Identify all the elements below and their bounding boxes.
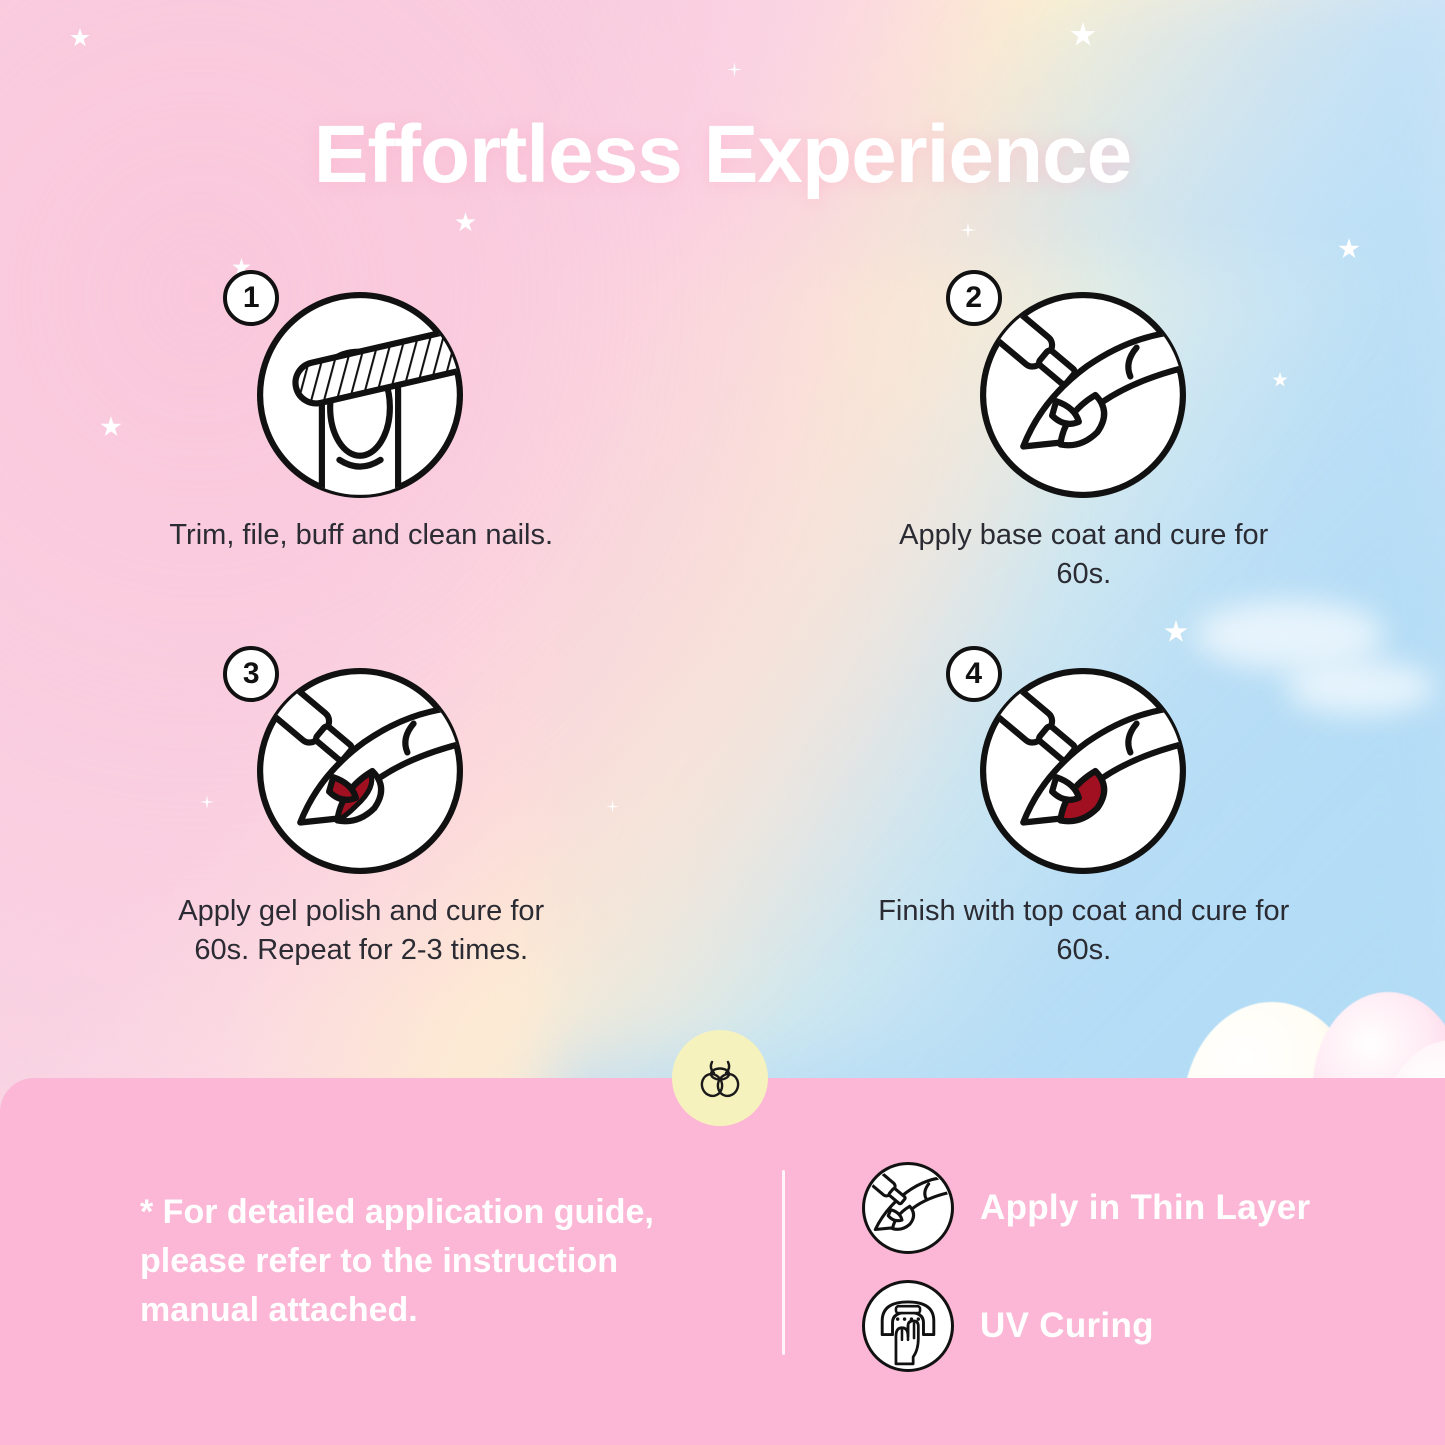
nail-file-icon <box>257 292 463 498</box>
step-4-caption: Finish with top coat and cure for 60s. <box>874 892 1294 970</box>
step-1-art: 1 <box>211 270 511 498</box>
instruction-note: * For detailed application guide, please… <box>140 1188 740 1335</box>
steps-grid: 1 <box>0 270 1445 969</box>
step-2-caption: Apply base coat and cure for 60s. <box>874 516 1294 594</box>
feature-thin-layer-label: Apply in Thin Layer <box>980 1188 1310 1228</box>
step-2-badge: 2 <box>946 270 1002 326</box>
bottom-panel: * For detailed application guide, please… <box>0 1078 1445 1445</box>
step-3-art: 3 <box>211 646 511 874</box>
step-1-badge: 1 <box>223 270 279 326</box>
page-title: Effortless Experience <box>0 108 1445 202</box>
steps-row-top: 1 <box>0 270 1445 594</box>
step-2-art: 2 <box>934 270 1234 498</box>
features-list: Apply in Thin Layer <box>862 1162 1310 1398</box>
step-3-caption: Apply gel polish and cure for 60s. Repea… <box>151 892 571 970</box>
step-3: 3 <box>0 646 723 970</box>
step-2: 2 <box>723 270 1445 594</box>
steps-row-bottom: 3 <box>0 646 1445 970</box>
step-4-badge: 4 <box>946 646 1002 702</box>
top-coat-brush-icon <box>980 668 1186 874</box>
feature-uv-curing: UV Curing <box>862 1280 1310 1372</box>
step-1-caption: Trim, file, buff and clean nails. <box>151 516 571 555</box>
vertical-divider <box>782 1170 785 1355</box>
step-3-badge: 3 <box>223 646 279 702</box>
feature-thin-layer: Apply in Thin Layer <box>862 1162 1310 1254</box>
infographic-canvas: Effortless Experience 1 <box>0 0 1445 1445</box>
step-1: 1 <box>0 270 723 594</box>
step-4: 4 <box>723 646 1445 970</box>
base-coat-brush-icon <box>980 292 1186 498</box>
bee-icon <box>694 1052 746 1104</box>
thin-layer-brush-icon <box>862 1162 954 1254</box>
feature-uv-curing-label: UV Curing <box>980 1306 1154 1346</box>
uv-lamp-icon <box>862 1280 954 1372</box>
step-4-art: 4 <box>934 646 1234 874</box>
bee-badge <box>672 1030 768 1126</box>
gel-polish-brush-icon <box>257 668 463 874</box>
